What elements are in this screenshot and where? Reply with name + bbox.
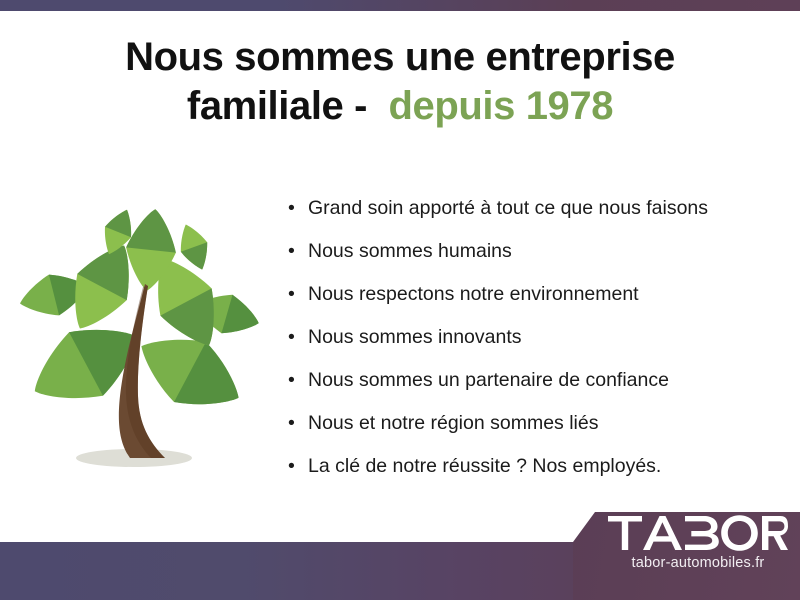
list-item: • Nous et notre région sommes liés bbox=[286, 407, 776, 450]
headline-dash: - bbox=[354, 84, 367, 128]
list-item-label: Nous respectons notre environnement bbox=[308, 283, 639, 305]
headline-line-2: familiale - depuis 1978 bbox=[40, 82, 760, 131]
list-item-label: La clé de notre réussite ? Nos employés. bbox=[308, 455, 661, 477]
bullet-marker-icon: • bbox=[288, 235, 298, 267]
page-title: Nous sommes une entreprise familiale - d… bbox=[40, 33, 760, 131]
list-item-label: Grand soin apporté à tout ce que nous fa… bbox=[308, 197, 708, 219]
bullet-marker-icon: • bbox=[288, 321, 298, 353]
list-item: • Nous sommes humains bbox=[286, 235, 776, 278]
tabor-wordmark-icon bbox=[608, 514, 788, 552]
list-item: • Nous respectons notre environnement bbox=[286, 278, 776, 321]
bullet-marker-icon: • bbox=[288, 450, 298, 482]
list-item-label: Nous et notre région sommes liés bbox=[308, 412, 598, 434]
logo-tagline: tabor-automobiles.fr bbox=[600, 555, 796, 571]
logo-panel: tabor-automobiles.fr bbox=[560, 506, 800, 600]
slide-root: Nous sommes une entreprise familiale - d… bbox=[0, 0, 800, 600]
list-item-label: Nous sommes humains bbox=[308, 240, 512, 262]
list-item-label: Nous sommes innovants bbox=[308, 326, 522, 348]
list-item: • Nous sommes innovants bbox=[286, 321, 776, 364]
tree-illustration bbox=[14, 192, 266, 488]
bullet-marker-icon: • bbox=[288, 192, 298, 224]
benefits-list: • Grand soin apporté à tout ce que nous … bbox=[286, 192, 776, 493]
list-item: • Grand soin apporté à tout ce que nous … bbox=[286, 192, 776, 235]
bullet-marker-icon: • bbox=[288, 407, 298, 439]
top-accent-band bbox=[0, 0, 800, 11]
list-item: • Nous sommes un partenaire de confiance bbox=[286, 364, 776, 407]
headline-plain: familiale bbox=[187, 84, 343, 128]
headline-accent: depuis 1978 bbox=[388, 84, 613, 128]
bullet-marker-icon: • bbox=[288, 278, 298, 310]
brand-logo: tabor-automobiles.fr bbox=[600, 514, 796, 571]
headline-line-1: Nous sommes une entreprise bbox=[40, 33, 760, 82]
list-item-label: Nous sommes un partenaire de confiance bbox=[308, 369, 669, 391]
bullet-marker-icon: • bbox=[288, 364, 298, 396]
list-item: • La clé de notre réussite ? Nos employé… bbox=[286, 450, 776, 493]
